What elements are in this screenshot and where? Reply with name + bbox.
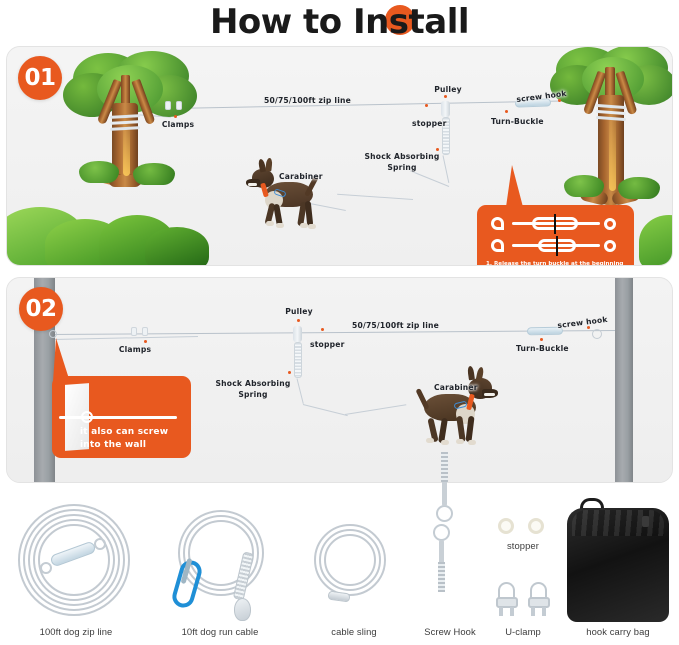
label-zip-line-02: 50/75/100ft zip line [352,321,439,330]
label-shock-absorbing-spring: Shock Absorbing Spring [362,151,442,173]
wall-post-right [615,277,633,483]
stopper-ring-b [528,518,544,534]
wall-screw-hook-illustration [59,416,177,419]
wall-screw-hook-eye [81,411,93,423]
carry-bag-cinch [642,516,649,527]
page-title-bar: How to Install [0,0,679,44]
turnbuckle-instructions-text: 1. Release the turn buckle at the beginn… [486,260,632,266]
stopper-ring-a [498,518,514,534]
page-title: How to Install [210,5,469,39]
product-carry-bag: hook carry bag [558,492,678,642]
label-stopper-02: stopper [310,340,345,349]
label-shock-absorbing-spring-02: Shock Absorbing Spring [212,378,294,400]
install-step-panel-02: Clamps Pulley stopper 50/75/100ft zip li… [6,277,673,483]
step-badge-02: 02 [19,287,63,331]
product-label-carry-bag: hook carry bag [558,626,678,637]
label-pulley-02: Pulley [276,307,322,316]
product-contents-row: 100ft dog zip line 10ft dog run cable ca… [0,492,679,645]
shock-absorbing-spring-hardware-02 [294,342,302,378]
pulley-hardware-02 [293,326,302,342]
step-badge-01: 01 [18,56,62,100]
label-zip-line: 50/75/100ft zip line [264,96,351,105]
turnbuckle-diagram-open [488,215,624,233]
product-label-zip-line: 100ft dog zip line [6,626,146,637]
screw-hook-ring-02 [592,329,602,339]
infographic-root: How to Install [0,0,679,645]
product-label-run-cable: 10ft dog run cable [150,626,290,637]
run-cable-swivel [234,598,251,621]
pulley-hardware [441,101,450,117]
label-turn-buckle: Turn-Buckle [491,117,544,126]
anchor-eye-02 [49,330,57,338]
dog-illustration-01 [245,157,330,242]
label-pulley: Pulley [424,85,472,94]
install-step-panel-01: Clamps 50/75/100ft zip line stopper Pull… [6,46,673,266]
product-run-cable: 10ft dog run cable [150,496,290,641]
bush-right-edge [639,215,673,266]
cable-sling-ferrule [327,591,350,603]
wall-mount-callout-text: it also can screw into the wall [80,426,190,452]
label-turn-buckle-02: Turn-Buckle [516,344,569,353]
product-zip-line: 100ft dog zip line [6,496,146,641]
callout-tail-01 [506,165,523,207]
label-clamps-02: Clamps [107,345,163,354]
label-carabiner-02: Carabiner [434,383,478,392]
label-clamps: Clamps [157,120,199,129]
label-carabiner: Carabiner [279,172,323,181]
tree-right-illustration [552,46,673,220]
label-stopper: stopper [412,119,447,128]
turnbuckle-diagram-tight [488,237,624,255]
bush-bank [6,197,225,266]
dog-illustration-02 [410,366,505,461]
carry-bag-drawstring-folds [572,510,664,536]
